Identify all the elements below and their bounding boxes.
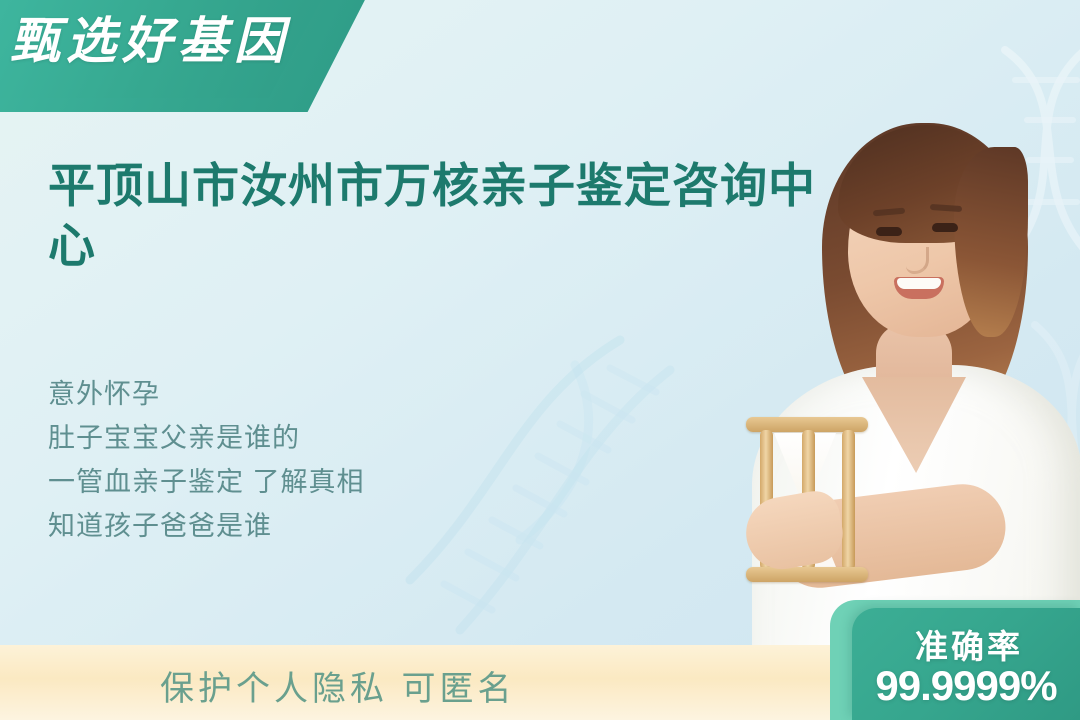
brand-logo-text: 甄选好基因 [10, 16, 290, 66]
feature-line: 肚子宝宝父亲是谁的 [48, 416, 518, 460]
page-title: 平顶山市汝州市万核亲子鉴定咨询中心 [48, 156, 858, 276]
logo-badge: 甄选好基因 [0, 0, 370, 112]
feature-list: 意外怀孕 肚子宝宝父亲是谁的 一管血亲子鉴定 了解真相 知道孩子爸爸是谁 [48, 372, 518, 548]
hourglass-column-right [842, 430, 855, 570]
promo-banner: 甄选好基因 平顶山市汝州市万核亲子鉴定咨询中心 意外怀孕 肚子宝宝父亲是谁的 一… [0, 0, 1080, 720]
feature-line: 意外怀孕 [48, 372, 518, 416]
accuracy-badge: 准确率 99.9999% [852, 608, 1080, 720]
feature-line: 一管血亲子鉴定 了解真相 [48, 460, 518, 504]
accuracy-label: 准确率 [874, 620, 1064, 668]
eye-left [876, 227, 902, 236]
accuracy-value: 99.9999% [858, 662, 1074, 710]
feature-line: 知道孩子爸爸是谁 [48, 504, 518, 548]
privacy-slogan: 保护个人隐私 可匿名 [160, 661, 515, 710]
hourglass-bottom-plate [746, 567, 868, 582]
eye-right [932, 223, 958, 232]
teeth [897, 278, 941, 289]
